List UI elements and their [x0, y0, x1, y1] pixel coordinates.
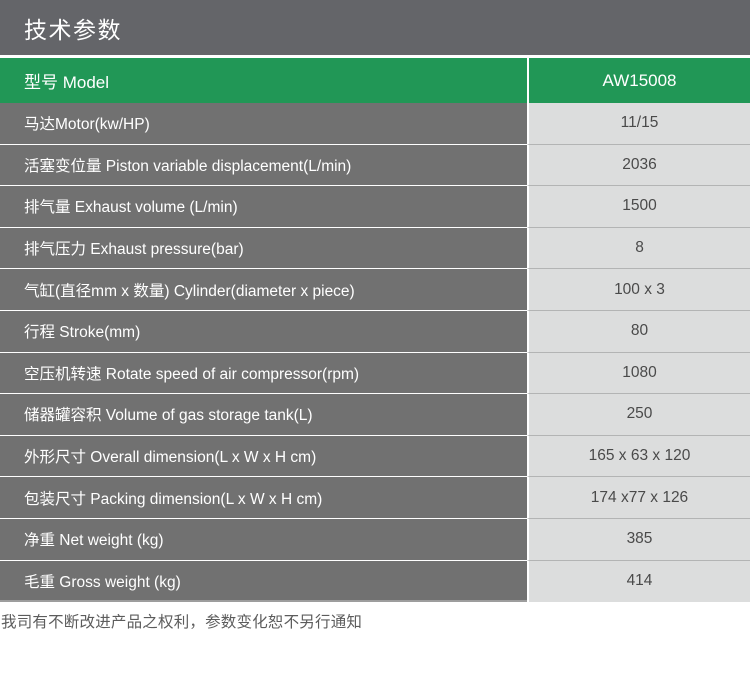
page-title: 技术参数 — [24, 11, 122, 45]
row-label: 包装尺寸 Packing dimension(L x W x H cm) — [0, 477, 527, 519]
row-label: 马达Motor(kw/HP) — [0, 103, 527, 145]
row-value: 100 x 3 — [527, 269, 750, 311]
table-row: 储器罐容积 Volume of gas storage tank(L) 250 — [0, 394, 750, 436]
table-row: 外形尺寸 Overall dimension(L x W x H cm) 165… — [0, 436, 750, 478]
row-value: 11/15 — [527, 103, 750, 145]
row-value: 1080 — [527, 353, 750, 395]
table-row: 包装尺寸 Packing dimension(L x W x H cm) 174… — [0, 477, 750, 519]
table-row: 空压机转速 Rotate speed of air compressor(rpm… — [0, 353, 750, 395]
row-value: 174 x77 x 126 — [527, 477, 750, 519]
table-row: 净重 Net weight (kg) 385 — [0, 519, 750, 561]
row-label: 外形尺寸 Overall dimension(L x W x H cm) — [0, 436, 527, 478]
technical-specification-table: 型号 Model AW15008 马达Motor(kw/HP) 11/15 活塞… — [0, 58, 750, 602]
row-label: 空压机转速 Rotate speed of air compressor(rpm… — [0, 353, 527, 395]
table-row: 毛重 Gross weight (kg) 414 — [0, 561, 750, 603]
row-label: 储器罐容积 Volume of gas storage tank(L) — [0, 394, 527, 436]
table-row: 活塞变位量 Piston variable displacement(L/min… — [0, 145, 750, 187]
row-value: 385 — [527, 519, 750, 561]
table-row: 马达Motor(kw/HP) 11/15 — [0, 103, 750, 145]
table-header-row: 型号 Model AW15008 — [0, 58, 750, 103]
table-bottom-divider — [0, 600, 527, 602]
row-label: 行程 Stroke(mm) — [0, 311, 527, 353]
row-label: 活塞变位量 Piston variable displacement(L/min… — [0, 145, 527, 187]
row-label: 排气压力 Exhaust pressure(bar) — [0, 228, 527, 270]
row-value: 250 — [527, 394, 750, 436]
row-label: 净重 Net weight (kg) — [0, 519, 527, 561]
row-value: 80 — [527, 311, 750, 353]
row-value: 2036 — [527, 145, 750, 187]
table-row: 气缸(直径mm x 数量) Cylinder(diameter x piece)… — [0, 269, 750, 311]
disclaimer-note: 我司有不断改进产品之权利，参数变化恕不另行通知 — [1, 610, 362, 632]
table-row: 排气量 Exhaust volume (L/min) 1500 — [0, 186, 750, 228]
row-value: 8 — [527, 228, 750, 270]
row-value: 1500 — [527, 186, 750, 228]
table-header-label: 型号 Model — [0, 58, 527, 103]
page-title-band: 技术参数 — [0, 0, 750, 55]
row-label: 毛重 Gross weight (kg) — [0, 561, 527, 603]
table-row: 行程 Stroke(mm) 80 — [0, 311, 750, 353]
table-row: 排气压力 Exhaust pressure(bar) 8 — [0, 228, 750, 270]
row-value: 165 x 63 x 120 — [527, 436, 750, 478]
row-value: 414 — [527, 561, 750, 603]
row-label: 排气量 Exhaust volume (L/min) — [0, 186, 527, 228]
row-label: 气缸(直径mm x 数量) Cylinder(diameter x piece) — [0, 269, 527, 311]
table-header-model-value: AW15008 — [527, 58, 750, 103]
